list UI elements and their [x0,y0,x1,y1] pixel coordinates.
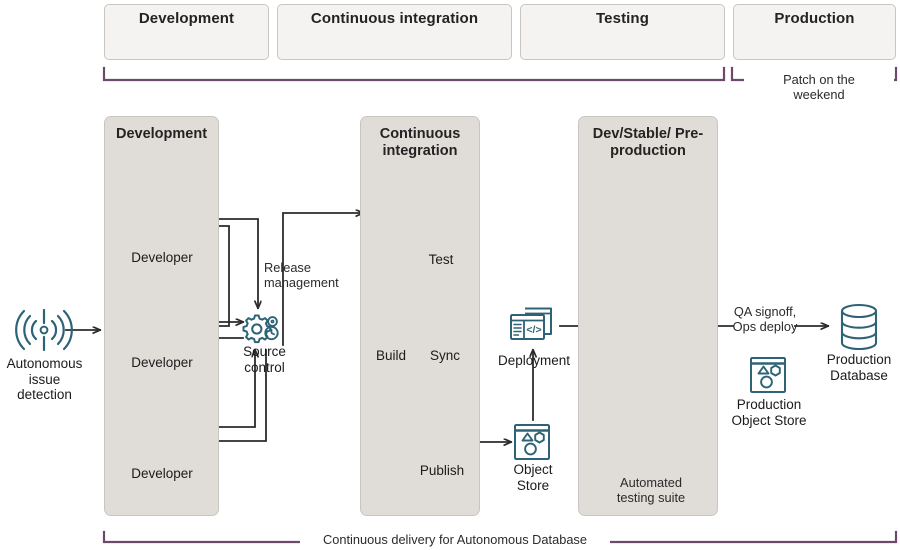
node-label-test: Test [406,252,476,268]
lane-title: Dev/Stable/ Pre-production [579,126,717,160]
gears-clock-icon [244,316,278,343]
phase-label: Continuous integration [278,10,511,27]
node-label-developer-3: Developer [112,466,212,482]
browser-code-icon: </> [511,309,551,340]
object-store-icon [751,358,785,392]
phase-box-testing[interactable]: Testing [520,4,725,60]
node-label-source-control: Source control [222,344,307,375]
node-label-autonomous-issue-detection: Autonomous issue detection [0,356,97,403]
phase-label: Production [734,10,895,27]
object-store-icon [515,425,549,459]
diagram-canvas: </> </> [0,0,900,550]
bracket-dev-to-testing [104,68,724,80]
bracket-label-continuous-delivery: Continuous delivery for Autonomous Datab… [300,532,610,547]
lane-title: Continuous integration [361,126,479,160]
svg-text:</>: </> [526,324,541,336]
phase-label: Development [105,10,268,27]
lane-continuous-integration: Continuous integration [360,116,480,516]
database-icon [842,305,876,349]
phase-box-development[interactable]: Development [104,4,269,60]
phase-box-continuous-integration[interactable]: Continuous integration [277,4,512,60]
annotation-automated-testing-suite: Automated testing suite [597,475,705,505]
broadcast-signal-icon [16,310,72,350]
node-label-deployment: Deployment [482,353,586,369]
phase-label: Testing [521,10,724,27]
node-label-developer-2: Developer [112,355,212,371]
node-label-object-store: Object Store [496,462,570,493]
annotation-qa-signoff: QA signoff, Ops deploy [713,304,817,334]
node-label-production-database: Production Database [807,352,900,383]
node-label-developer-1: Developer [112,250,212,266]
annotation-release-management: Release management [264,260,362,290]
lane-development: Development [104,116,219,516]
phase-box-production[interactable]: Production [733,4,896,60]
node-label-publish: Publish [404,463,480,479]
lane-dev-stable-preproduction: Dev/Stable/ Pre-production [578,116,718,516]
bracket-label-patch-weekend: Patch on the weekend [744,72,894,102]
lane-title: Development [105,126,218,143]
node-label-sync: Sync [412,348,478,364]
node-label-production-object-store: Production Object Store [714,397,824,428]
